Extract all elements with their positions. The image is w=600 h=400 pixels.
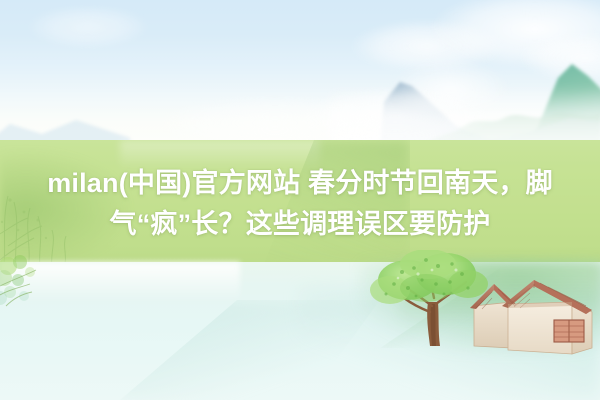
foliage-cluster-icon — [0, 252, 68, 314]
page-title: milan(中国)官方网站 春分时节回南天，脚气“疯”长？这些调理误区要防护 — [0, 163, 600, 245]
banner-image: milan(中国)官方网站 春分时节回南天，脚气“疯”长？这些调理误区要防护 — [0, 0, 600, 400]
cloud-icon — [28, 6, 148, 48]
house-illustration — [468, 272, 596, 358]
